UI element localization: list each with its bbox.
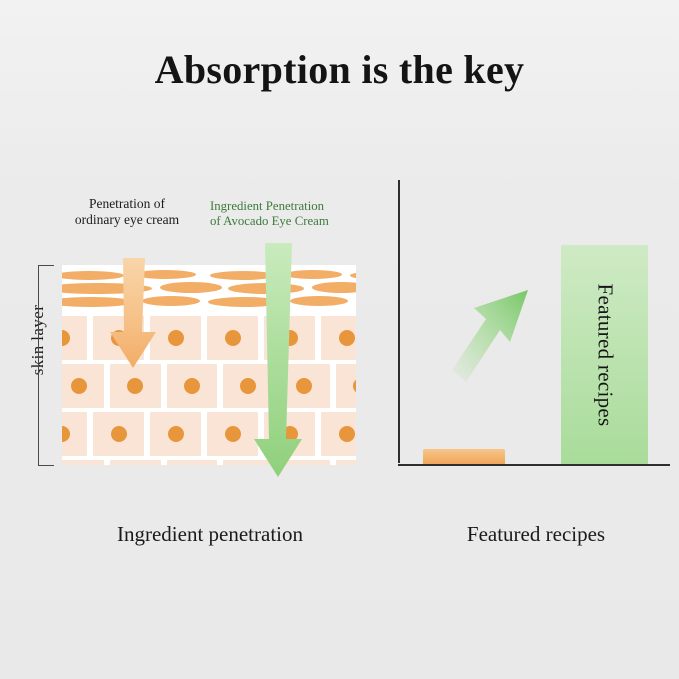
legend-ordinary-line2: ordinary eye cream <box>52 212 202 228</box>
skin-cell <box>62 316 87 360</box>
skin-layer-bracket <box>38 265 54 466</box>
cell-nucleus-dot <box>282 330 298 346</box>
cell-nucleus-dot <box>111 426 127 442</box>
cell-nucleus-dot <box>184 378 200 394</box>
infographic-canvas: Absorption is the key Penetration of ord… <box>0 0 679 679</box>
corneum-flake <box>210 271 276 280</box>
absorption-bar-chart: Featured recipes <box>398 180 672 466</box>
corneum-flake <box>350 271 356 280</box>
cell-nucleus-dot <box>62 426 70 442</box>
skin-cell <box>321 412 356 456</box>
epidermis-cell-zone <box>62 312 356 465</box>
corneum-flake <box>62 271 124 280</box>
chart-x-axis <box>398 464 670 466</box>
corneum-flake <box>62 283 152 294</box>
legend-avocado-line1: Ingredient Penetration <box>210 199 366 214</box>
legend-ordinary-line1: Penetration of <box>52 196 202 212</box>
cell-nucleus-dot <box>168 426 184 442</box>
corneum-flake <box>160 282 222 293</box>
corneum-flake <box>312 282 356 293</box>
cell-row <box>62 364 356 408</box>
stratum-corneum-layer <box>62 265 356 312</box>
up-right-arrow-icon <box>450 288 532 384</box>
legend-avocado-line2: of Avocado Eye Cream <box>210 214 366 229</box>
corneum-flake <box>284 270 342 279</box>
cell-nucleus-dot <box>282 426 298 442</box>
skin-cell <box>150 316 201 360</box>
legend-ordinary-cream: Penetration of ordinary eye cream <box>52 196 202 229</box>
cell-nucleus-dot <box>296 378 312 394</box>
legend-avocado-cream: Ingredient Penetration of Avocado Eye Cr… <box>210 199 366 229</box>
cell-row <box>62 412 356 456</box>
caption-ingredient-penetration: Ingredient penetration <box>40 522 380 547</box>
skin-cell <box>207 316 258 360</box>
skin-cell <box>264 316 315 360</box>
skin-cell <box>110 460 160 465</box>
cell-nucleus-dot <box>127 378 143 394</box>
skin-cell <box>336 460 356 465</box>
skin-cell <box>264 412 315 456</box>
caption-featured-recipes: Featured recipes <box>400 522 672 547</box>
chart-y-axis <box>398 180 400 463</box>
corneum-flake <box>134 270 196 279</box>
cell-nucleus-dot <box>225 426 241 442</box>
skin-cell <box>336 364 356 408</box>
bar-label-featured-recipes: Featured recipes <box>592 283 617 426</box>
bar-ordinary-eye-cream <box>423 449 505 464</box>
page-title: Absorption is the key <box>0 46 679 93</box>
skin-cell <box>207 412 258 456</box>
skin-cell <box>167 460 217 465</box>
cell-nucleus-dot <box>240 378 256 394</box>
skin-cell <box>62 364 104 408</box>
cell-row <box>62 460 356 465</box>
skin-cell <box>93 412 144 456</box>
cell-nucleus-dot <box>225 330 241 346</box>
cell-nucleus-dot <box>353 378 356 394</box>
corneum-flake <box>228 283 304 294</box>
cell-nucleus-dot <box>339 426 355 442</box>
bar-avocado-eye-cream: Featured recipes <box>561 245 648 464</box>
corneum-flake <box>62 297 134 307</box>
skin-cell <box>279 364 329 408</box>
corneum-flake <box>142 296 200 306</box>
skin-cell <box>62 412 87 456</box>
skin-cell <box>223 364 273 408</box>
skin-cell <box>110 364 160 408</box>
skin-cell <box>62 460 104 465</box>
cell-nucleus-dot <box>111 330 127 346</box>
cell-nucleus-dot <box>62 330 70 346</box>
skin-cell <box>279 460 329 465</box>
corneum-flake <box>290 296 348 306</box>
cell-nucleus-dot <box>168 330 184 346</box>
skin-cell <box>150 412 201 456</box>
cell-nucleus-dot <box>71 378 87 394</box>
skin-cell <box>167 364 217 408</box>
cell-nucleus-dot <box>339 330 355 346</box>
skin-cross-section-diagram <box>62 265 356 465</box>
corneum-flake <box>208 297 282 307</box>
cell-row <box>62 316 356 360</box>
skin-cell <box>223 460 273 465</box>
skin-cell <box>321 316 356 360</box>
skin-cell <box>93 316 144 360</box>
